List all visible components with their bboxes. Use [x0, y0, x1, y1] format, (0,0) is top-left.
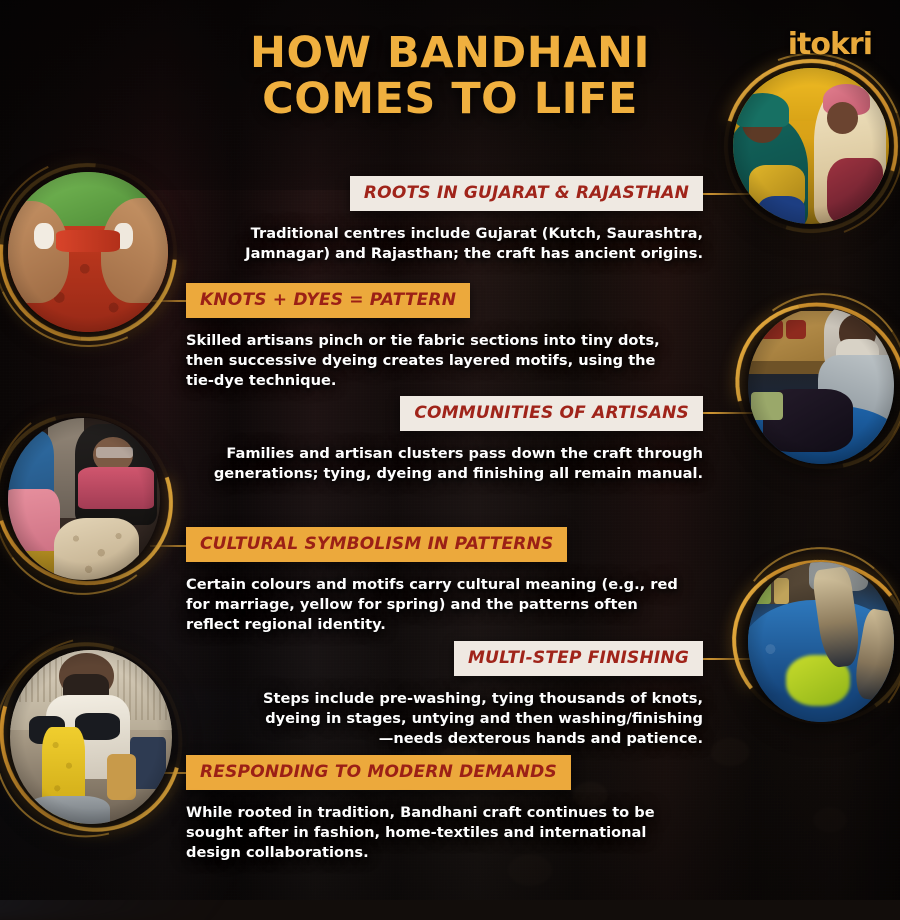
section-modern-demands: RESPONDING TO MODERN DEMANDS While roote… [186, 755, 666, 863]
section-heading-modern-demands: RESPONDING TO MODERN DEMANDS [186, 755, 571, 790]
section-cultural-symbolism: CULTURAL SYMBOLISM IN PATTERNS Certain c… [186, 527, 691, 635]
photo-artisan-dyeing-dark-cloth [748, 308, 894, 464]
photo-image [748, 562, 894, 722]
section-body-roots: Traditional centres include Gujarat (Kut… [235, 224, 703, 264]
section-roots: ROOTS IN GUJARAT & RAJASTHAN Traditional… [235, 176, 703, 264]
photo-image [10, 650, 172, 824]
section-heading-communities: COMMUNITIES OF ARTISANS [400, 396, 703, 431]
section-body-cultural-symbolism: Certain colours and motifs carry cultura… [186, 575, 691, 635]
photo-image [8, 418, 160, 580]
section-communities: COMMUNITIES OF ARTISANS Families and art… [200, 396, 703, 484]
section-body-knots-dyes: Skilled artisans pinch or tie fabric sec… [186, 331, 686, 391]
section-body-multi-step-finishing: Steps include pre-washing, tying thousan… [255, 689, 703, 749]
photo-image [748, 308, 894, 464]
brand-logo[interactable]: itokri [788, 30, 872, 60]
section-heading-cultural-symbolism: CULTURAL SYMBOLISM IN PATTERNS [186, 527, 567, 562]
section-heading-knots-dyes: KNOTS + DYES = PATTERN [186, 283, 470, 318]
page-title: HOW BANDHANI COMES TO LIFE [0, 30, 900, 123]
photo-women-untying-bundles [8, 418, 160, 580]
photo-yellow-dyed-cloth [10, 650, 172, 824]
section-multi-step-finishing: MULTI-STEP FINISHING Steps include pre-w… [255, 641, 703, 749]
section-body-modern-demands: While rooted in tradition, Bandhani craf… [186, 803, 666, 863]
section-body-communities: Families and artisan clusters pass down … [200, 444, 703, 484]
title-line-1: HOW BANDHANI [0, 30, 900, 76]
title-line-2: COMES TO LIFE [0, 76, 900, 122]
photo-image [8, 172, 168, 332]
section-heading-multi-step-finishing: MULTI-STEP FINISHING [454, 641, 703, 676]
section-knots-dyes: KNOTS + DYES = PATTERN Skilled artisans … [186, 283, 686, 391]
section-heading-roots: ROOTS IN GUJARAT & RAJASTHAN [350, 176, 703, 211]
photo-indigo-dye-vat [748, 562, 894, 722]
photo-hands-tying-red-fabric [8, 172, 168, 332]
